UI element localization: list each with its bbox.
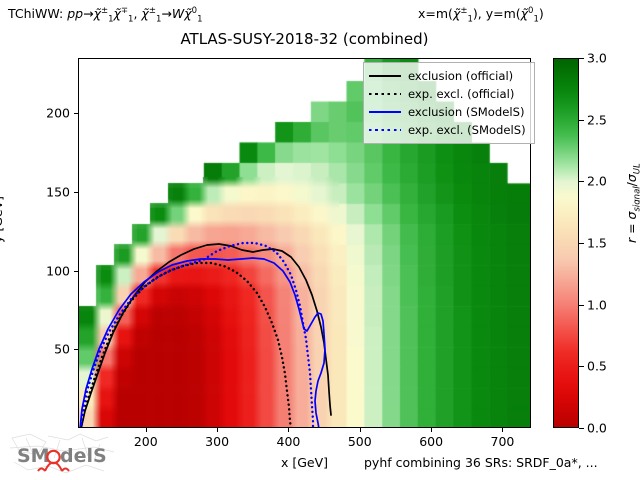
y-tick [74, 192, 78, 193]
y-tick-label: 150 [46, 184, 70, 199]
colorbar [553, 58, 579, 428]
x-tick [431, 428, 432, 432]
x-tick-label: 700 [491, 434, 515, 449]
y-tick [74, 113, 78, 114]
x-tick-label: 300 [205, 434, 229, 449]
x-tick-label: 400 [277, 434, 301, 449]
colorbar-tick-label: 1.0 [587, 297, 607, 312]
legend-item-3[interactable]: exp. excl. (SModelS) [368, 121, 529, 139]
colorbar-label: r = σsignal/σUL [624, 163, 639, 243]
y-tick-label: 100 [46, 263, 70, 278]
y-tick [74, 349, 78, 350]
colorbar-tick [579, 366, 584, 367]
legend-swatch-dotted-icon [368, 124, 402, 136]
svg-text:SM: SM [17, 445, 50, 467]
legend-label: exclusion (SModelS) [408, 106, 525, 118]
svg-text:delS: delS [60, 445, 107, 467]
x-tick [360, 428, 361, 432]
legend-label: exp. excl. (official) [408, 88, 514, 100]
legend-item-2[interactable]: exclusion (SModelS) [368, 103, 529, 121]
y-tick [74, 271, 78, 272]
x-tick-label: 500 [348, 434, 372, 449]
colorbar-tick-label: 2.5 [587, 112, 607, 127]
x-tick [146, 428, 147, 432]
colorbar-tick [579, 120, 584, 121]
legend-label: exclusion (official) [408, 70, 513, 82]
contour-exclusion-official- [81, 244, 331, 428]
colorbar-tick-label: 1.5 [587, 236, 607, 251]
legend-label: exp. excl. (SModelS) [408, 124, 526, 136]
legend-swatch-solid-icon [368, 70, 402, 82]
legend-item-1[interactable]: exp. excl. (official) [368, 85, 529, 103]
footer-note: pyhf combining 36 SRs: SRDF_0a*, ... [364, 455, 598, 470]
contour-exp-excl-smodels- [81, 243, 313, 428]
x-tick [288, 428, 289, 432]
x-tick [502, 428, 503, 432]
colorbar-tick [579, 243, 584, 244]
colorbar-tick [579, 58, 584, 59]
axes-meaning-label: x=m(χ̃±1), y=m(χ̃01) [418, 6, 544, 21]
process-label: TChiWW: pp→χ̃±1χ̃∓1, χ̃±1→Wχ̃01 [8, 6, 202, 21]
colorbar-tick-label: 0.0 [587, 421, 607, 436]
colorbar-tick [579, 428, 584, 429]
contour-exp-excl-official- [81, 263, 291, 428]
x-tick-label: 200 [134, 434, 158, 449]
legend-item-0[interactable]: exclusion (official) [368, 67, 529, 85]
y-axis-label: y [GeV] [0, 196, 5, 243]
page-title: ATLAS-SUSY-2018-32 (combined) [0, 30, 609, 48]
colorbar-tick-label: 0.5 [587, 359, 607, 374]
colorbar-tick [579, 305, 584, 306]
legend[interactable]: exclusion (official)exp. excl. (official… [363, 62, 535, 144]
x-tick [217, 428, 218, 432]
y-tick-label: 200 [46, 106, 70, 121]
x-tick-label: 600 [419, 434, 443, 449]
colorbar-tick [579, 181, 584, 182]
contour-exclusion-smodels- [80, 258, 325, 428]
colorbar-tick-label: 3.0 [587, 51, 607, 66]
smodels-logo-icon: SM delS [8, 432, 116, 476]
legend-swatch-dotted-icon [368, 88, 402, 100]
colorbar-tick-label: 2.0 [587, 174, 607, 189]
legend-swatch-solid-icon [368, 106, 402, 118]
y-tick-label: 50 [54, 342, 70, 357]
chart-root: TChiWW: pp→χ̃±1χ̃∓1, χ̃±1→Wχ̃01 x=m(χ̃±1… [0, 0, 640, 480]
